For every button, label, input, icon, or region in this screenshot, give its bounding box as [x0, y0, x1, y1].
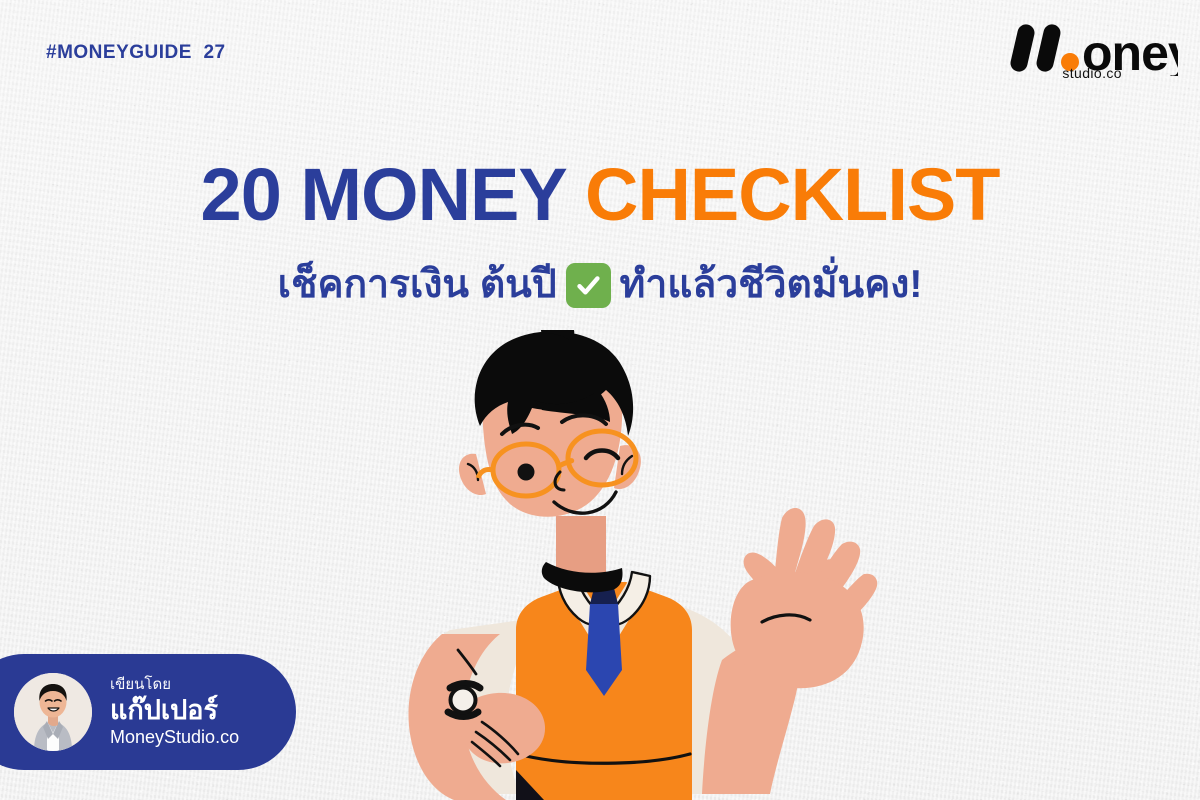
- title-part-orange: CHECKLIST: [585, 153, 999, 236]
- hashtag-label: #MONEYGUIDE 27: [46, 42, 226, 64]
- author-avatar-photo: [14, 673, 92, 751]
- author-text-block: เขียนโดย แก๊ปเปอร์ MoneyStudio.co: [110, 677, 239, 747]
- author-prefix: เขียนโดย: [110, 677, 239, 694]
- author-badge[interactable]: เขียนโดย แก๊ปเปอร์ MoneyStudio.co: [0, 654, 296, 770]
- waving-hand: [731, 508, 878, 688]
- waving-young-man-illustration: [330, 330, 890, 800]
- page-subtitle: เช็คการเงิน ต้นปี ทำแล้วชีวิตมั่นคง!: [0, 261, 1200, 310]
- logo-subtext: studio.co: [1062, 65, 1122, 81]
- white-check-mark-icon: [566, 263, 611, 308]
- author-name: แก๊ปเปอร์: [110, 695, 239, 725]
- wrist-watch-icon: [448, 684, 480, 717]
- brand-logo[interactable]: oney studio.co: [1008, 20, 1178, 81]
- page-title: 20 MONEY CHECKLIST: [0, 158, 1200, 232]
- author-site: MoneyStudio.co: [110, 727, 239, 747]
- open-eye: [518, 464, 535, 481]
- subtitle-before: เช็คการเงิน ต้นปี: [278, 261, 557, 310]
- subtitle-after: ทำแล้วชีวิตมั่นคง!: [620, 261, 923, 310]
- title-part-blue: 20 MONEY: [201, 153, 585, 236]
